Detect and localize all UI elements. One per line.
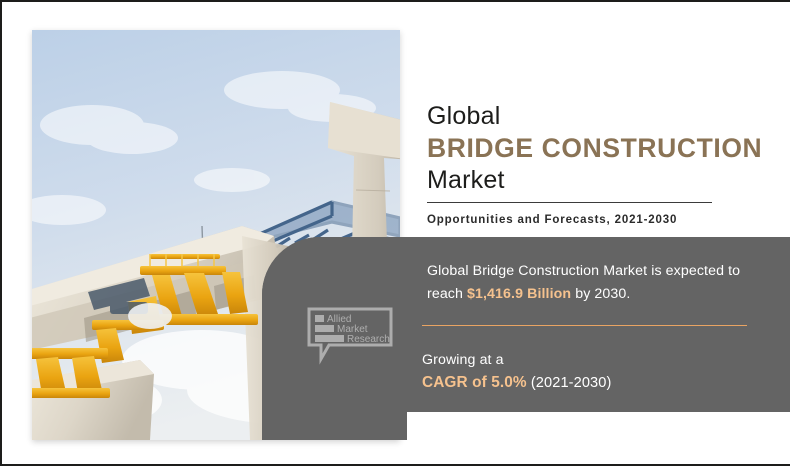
amr-logo-line3: Research bbox=[347, 334, 390, 345]
market-statement: Global Bridge Construction Market is exp… bbox=[427, 260, 772, 306]
cagr-line: CAGR of 5.0% (2021-2030) bbox=[422, 371, 767, 395]
title-suffix: Market bbox=[427, 165, 772, 196]
market-statement-line: Global Bridge Construction Market is exp… bbox=[427, 260, 772, 306]
market-value: $1,416.9 Billion bbox=[467, 286, 571, 302]
page-title: BRIDGE CONSTRUCTION bbox=[427, 132, 772, 165]
statement-suffix: by 2030. bbox=[571, 286, 630, 302]
title-divider bbox=[427, 202, 712, 203]
amr-logo-mark: Allied Market Research bbox=[307, 305, 393, 365]
cagr-period: (2021-2030) bbox=[527, 375, 612, 391]
cagr-value: CAGR of 5.0% bbox=[422, 374, 527, 391]
cagr-lead: Growing at a bbox=[422, 350, 767, 371]
panel-divider bbox=[422, 325, 747, 326]
report-cover-card: Allied Market Research Global BRIDGE CON… bbox=[0, 0, 790, 466]
eyebrow-global: Global bbox=[427, 102, 772, 132]
heading-block: Global BRIDGE CONSTRUCTION Market Opport… bbox=[427, 102, 772, 226]
allied-market-research-logo: Allied Market Research bbox=[307, 305, 393, 365]
cagr-block: Growing at a CAGR of 5.0% (2021-2030) bbox=[422, 350, 767, 395]
subtitle: Opportunities and Forecasts, 2021-2030 bbox=[427, 214, 772, 226]
